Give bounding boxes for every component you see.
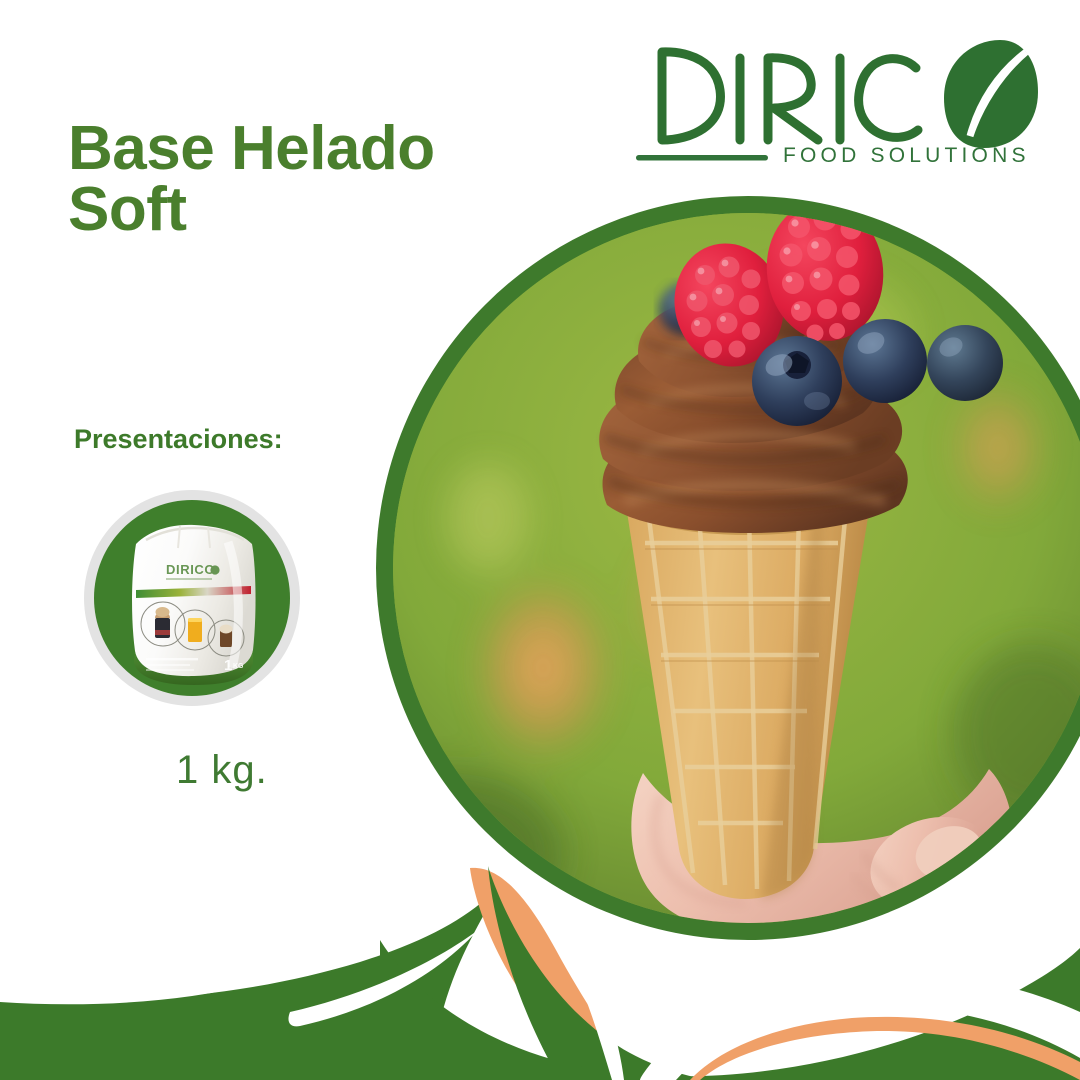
package-thumbnail: DIRICO xyxy=(84,490,300,706)
white-sliver-center xyxy=(528,898,624,1080)
package-weight-label: 1 kg. xyxy=(176,748,268,793)
poster-canvas: FOOD SOLUTIONS Base Helado Soft Presenta… xyxy=(0,0,1080,1080)
green-band-under-photo xyxy=(380,940,1080,1080)
brand-logo: FOOD SOLUTIONS xyxy=(628,28,1048,168)
blueberry-center xyxy=(752,336,842,426)
product-photo-ring xyxy=(376,196,1080,940)
blueberry-far-right xyxy=(927,325,1003,401)
orange-curve-bottom-right xyxy=(690,1017,1080,1080)
logo-divider-rule xyxy=(636,155,768,161)
white-sliver-inner xyxy=(640,971,1080,1080)
logo-tagline-text: FOOD SOLUTIONS xyxy=(783,144,1030,167)
product-title-line-1: Base Helado xyxy=(68,118,608,179)
package-green-circle: DIRICO xyxy=(94,500,290,696)
presentations-label: Presentaciones: xyxy=(74,424,283,455)
product-title-line-2: Soft xyxy=(68,179,608,240)
svg-text:DIRICO: DIRICO xyxy=(166,562,215,577)
product-title: Base Helado Soft xyxy=(68,118,608,241)
blueberry-right xyxy=(843,319,927,403)
product-bag-image: DIRICO xyxy=(120,518,266,686)
green-base-left xyxy=(0,886,500,1080)
white-sliver-left-lower xyxy=(288,930,478,1026)
white-sliver-left-upper xyxy=(0,844,480,1004)
product-photo xyxy=(393,213,1080,923)
